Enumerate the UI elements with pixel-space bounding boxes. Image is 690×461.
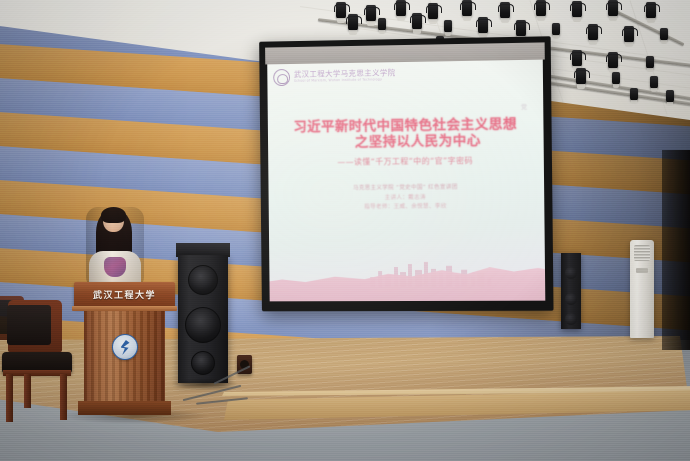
ac-vent-grille	[634, 245, 650, 261]
presenter-person	[86, 207, 144, 289]
loudspeaker-tower-right	[561, 253, 581, 329]
dark-right-corner	[662, 150, 690, 350]
stage-light	[336, 2, 346, 19]
slide-title-block: 习近平新时代中国特色社会主义思想 之坚持以人民为中心 ——读懂“千万工程”中的“…	[268, 116, 544, 169]
stage-light	[572, 1, 582, 18]
university-seal-icon	[273, 69, 290, 86]
slide-header: 武汉工程大学马克思主义学院 School of Marxism, Wuhan I…	[273, 67, 396, 86]
stage-light	[366, 5, 376, 22]
projection-screen: 武汉工程大学马克思主义学院 School of Marxism, Wuhan I…	[259, 36, 553, 311]
wooden-chair-front	[2, 300, 74, 425]
stage-light	[650, 76, 658, 89]
chair-leg	[24, 374, 31, 408]
stage-light	[462, 0, 472, 17]
ac-control-panel	[636, 268, 648, 273]
lecture-hall-photo: 武汉工程大学马克思主义学院 School of Marxism, Wuhan I…	[0, 0, 690, 461]
presenter-shading	[86, 207, 144, 289]
air-conditioner-unit	[630, 240, 654, 338]
stage-light	[660, 28, 668, 41]
university-emblem-icon	[112, 334, 138, 360]
podium-name-plate: 武汉工程大学	[74, 288, 175, 301]
chair-leg	[6, 374, 13, 422]
podium-base	[78, 401, 171, 415]
stage-light	[630, 88, 638, 101]
slide-title-line-2: 之坚持以人民为中心	[268, 132, 544, 151]
podium-top: 武汉工程大学	[74, 282, 175, 308]
stage-light	[378, 18, 386, 31]
stage-light	[444, 20, 452, 33]
stage-light	[646, 2, 656, 19]
stage-light	[412, 13, 422, 30]
speaking-podium: 武汉工程大学	[74, 282, 175, 417]
presentation-slide: 武汉工程大学马克思主义学院 School of Marxism, Wuhan I…	[267, 60, 545, 302]
stage-light	[396, 0, 406, 17]
stage-light	[608, 52, 618, 69]
stage-light	[588, 24, 598, 41]
stage-light	[572, 50, 582, 67]
stage-light	[646, 56, 654, 69]
chair-leg	[60, 374, 67, 420]
stage-light	[428, 3, 438, 20]
slide-institution-en: School of Marxism, Wuhan Institute of Te…	[294, 79, 396, 84]
stage-light	[348, 14, 358, 31]
slide-subtitle: ——读懂“千万工程”中的“官”字密码	[268, 153, 544, 169]
stage-light	[478, 17, 488, 34]
slide-credit-line: 指导老师：王威、余悦慧、李欣	[269, 202, 545, 214]
stage-light	[666, 90, 674, 103]
chair-back-cushion	[7, 305, 51, 345]
stage-light	[552, 23, 560, 36]
stage-light	[624, 26, 634, 43]
stage-light	[576, 68, 586, 85]
stage-light	[612, 72, 620, 85]
stage-light	[608, 0, 618, 17]
slide-corner-stamp: 党	[521, 104, 527, 112]
slide-credits-block: 马克思主义学院 “党史中国” 红色宣讲团 主讲人：戴志涛 指导老师：王威、余悦慧…	[268, 183, 544, 214]
stage-light	[500, 2, 510, 19]
stage-light	[516, 20, 526, 37]
stage-light	[536, 0, 546, 17]
loudspeaker-stack-left	[178, 255, 228, 383]
